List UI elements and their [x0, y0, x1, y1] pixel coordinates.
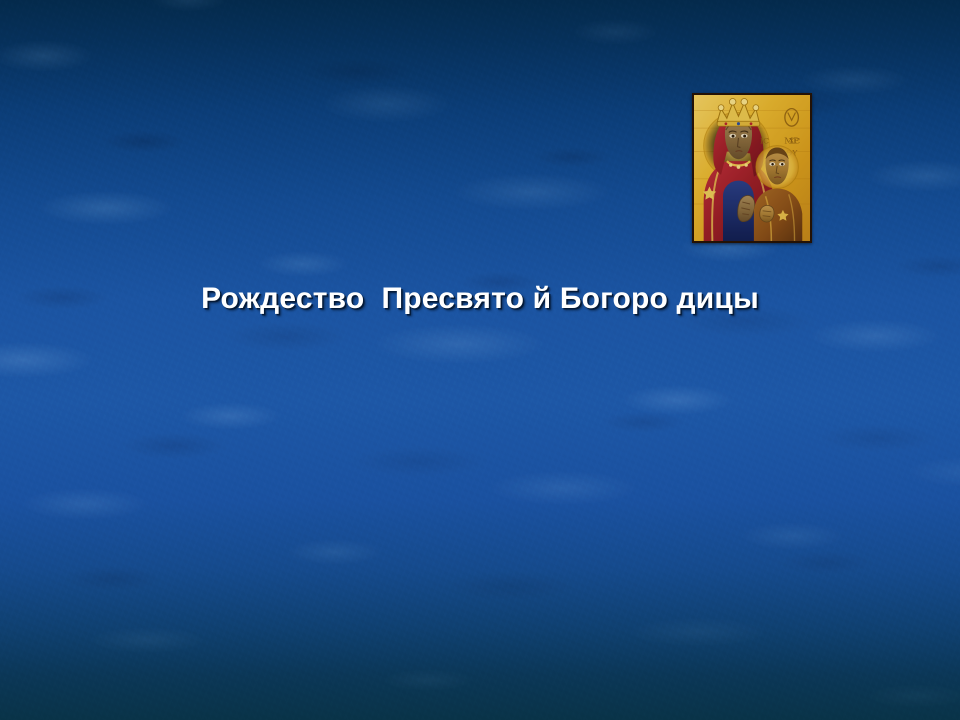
- theotokos-icon: МР ΘΥ: [692, 93, 812, 243]
- slide-canvas: МР ΘΥ: [0, 0, 960, 720]
- slide-background-grain: [0, 0, 960, 720]
- page-title: Рождество Пресвято й Богоро дицы: [0, 282, 960, 316]
- theotokos-icon-artwork: МР ΘΥ: [694, 95, 810, 241]
